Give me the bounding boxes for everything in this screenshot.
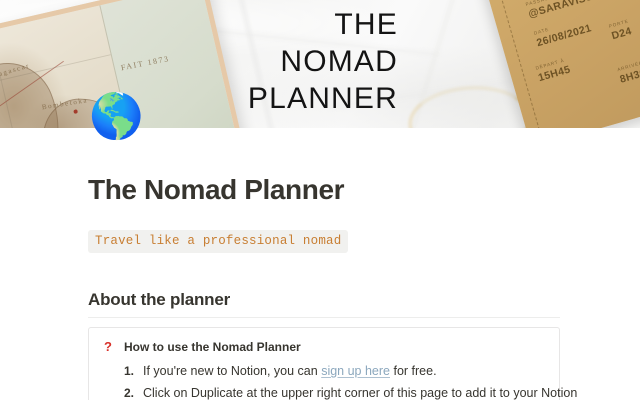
ticket-field-date: DATE 26/08/2021 (533, 15, 593, 49)
how-to-callout-block[interactable]: ? How to use the Nomad Planner 1. If you… (88, 327, 560, 400)
tagline-code-block[interactable]: Travel like a professional nomad (88, 230, 348, 253)
list-item: 1. If you're new to Notion, you can sign… (124, 362, 545, 381)
callout-title: How to use the Nomad Planner (124, 339, 301, 355)
list-item-text-before: If you're new to Notion, you can (143, 364, 321, 378)
ticket-value: @SARAVISSANTE (527, 0, 623, 20)
map-label-year: FAIT 1873 (120, 54, 170, 72)
list-item-text-after: for free. (390, 364, 437, 378)
list-item-text-before: Click on Duplicate at the upper right co… (143, 386, 577, 400)
ticket-field-gate: PORTE D24 (608, 18, 633, 42)
list-item-number: 1. (124, 362, 134, 381)
list-item: 2. Click on Duplicate at the upper right… (124, 384, 545, 400)
page-title[interactable]: The Nomad Planner (88, 174, 344, 206)
notion-page: Madagascar Bombetoka FAIT 1873 DG PARIS … (0, 0, 640, 400)
section-divider (88, 317, 560, 318)
cover-title-line-3: PLANNER (186, 80, 398, 117)
red-question-mark-emoji: ? (102, 339, 114, 355)
sign-up-link[interactable]: sign up here (321, 364, 390, 378)
globe-americas-emoji[interactable]: 🌎 (89, 92, 139, 142)
ticket-field-arrival: ARRIVÉE À 8H30 (617, 58, 640, 85)
cover-title-line-1: THE (186, 6, 398, 43)
how-to-steps-list: 1. If you're new to Notion, you can sign… (102, 362, 545, 400)
ticket-field-passenger: PASSAGER @SARAVISSANTE (525, 0, 623, 20)
section-heading-about[interactable]: About the planner (88, 290, 230, 310)
cover-title: THE NOMAD PLANNER (186, 6, 398, 117)
callout-header: ? How to use the Nomad Planner (102, 339, 545, 355)
ticket-field-departure: DÉPART À 15H45 (535, 57, 572, 84)
cover-title-line-2: NOMAD (186, 43, 398, 80)
list-item-number: 2. (124, 384, 134, 400)
